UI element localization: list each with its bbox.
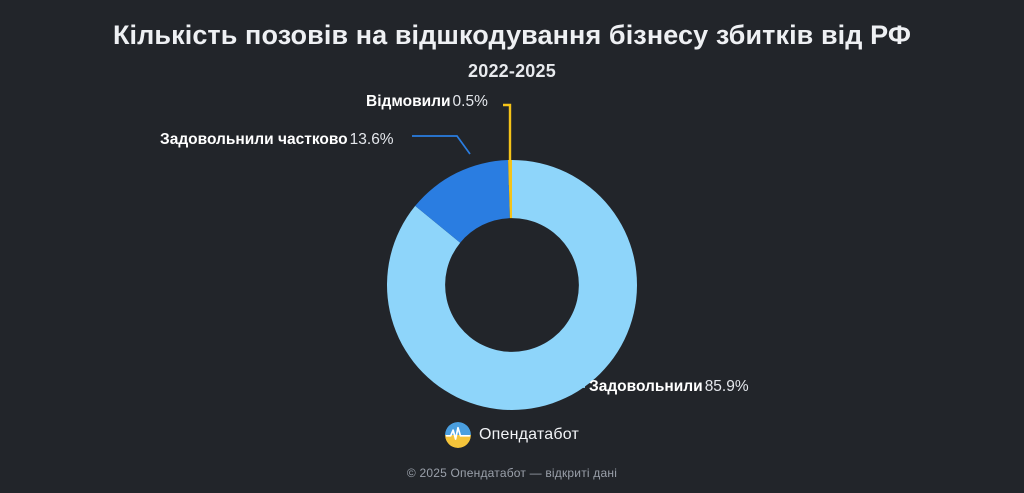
slice-label-refused: Відмовили0.5%: [366, 93, 488, 111]
slice-label-partial-name: Задовольнили частково: [160, 131, 348, 148]
page-title: Кількість позовів на відшкодування бізне…: [0, 20, 1024, 51]
slice-label-refused-name: Відмовили: [366, 93, 451, 110]
brand-footer: Опендатабот: [0, 422, 1024, 448]
donut-chart: [387, 160, 637, 410]
slice-label-satisfied-pct: 85.9%: [705, 378, 749, 395]
opendatabot-logo-icon: [445, 422, 471, 448]
slice-label-partial-pct: 13.6%: [350, 131, 394, 148]
slice-label-satisfied: Задовольнили85.9%: [589, 378, 749, 396]
brand-name: Опендатабот: [479, 426, 579, 444]
chart-subtitle: 2022-2025: [0, 61, 1024, 82]
leader-line-partial: [412, 136, 470, 154]
donut-chart-svg: [387, 160, 637, 410]
slice-label-satisfied-name: Задовольнили: [589, 378, 703, 395]
slice-label-partial: Задовольнили частково13.6%: [160, 131, 394, 149]
copyright-text: © 2025 Опендатабот — відкриті дані: [0, 466, 1024, 480]
chart-canvas: Кількість позовів на відшкодування бізне…: [0, 0, 1024, 493]
slice-label-refused-pct: 0.5%: [453, 93, 488, 110]
